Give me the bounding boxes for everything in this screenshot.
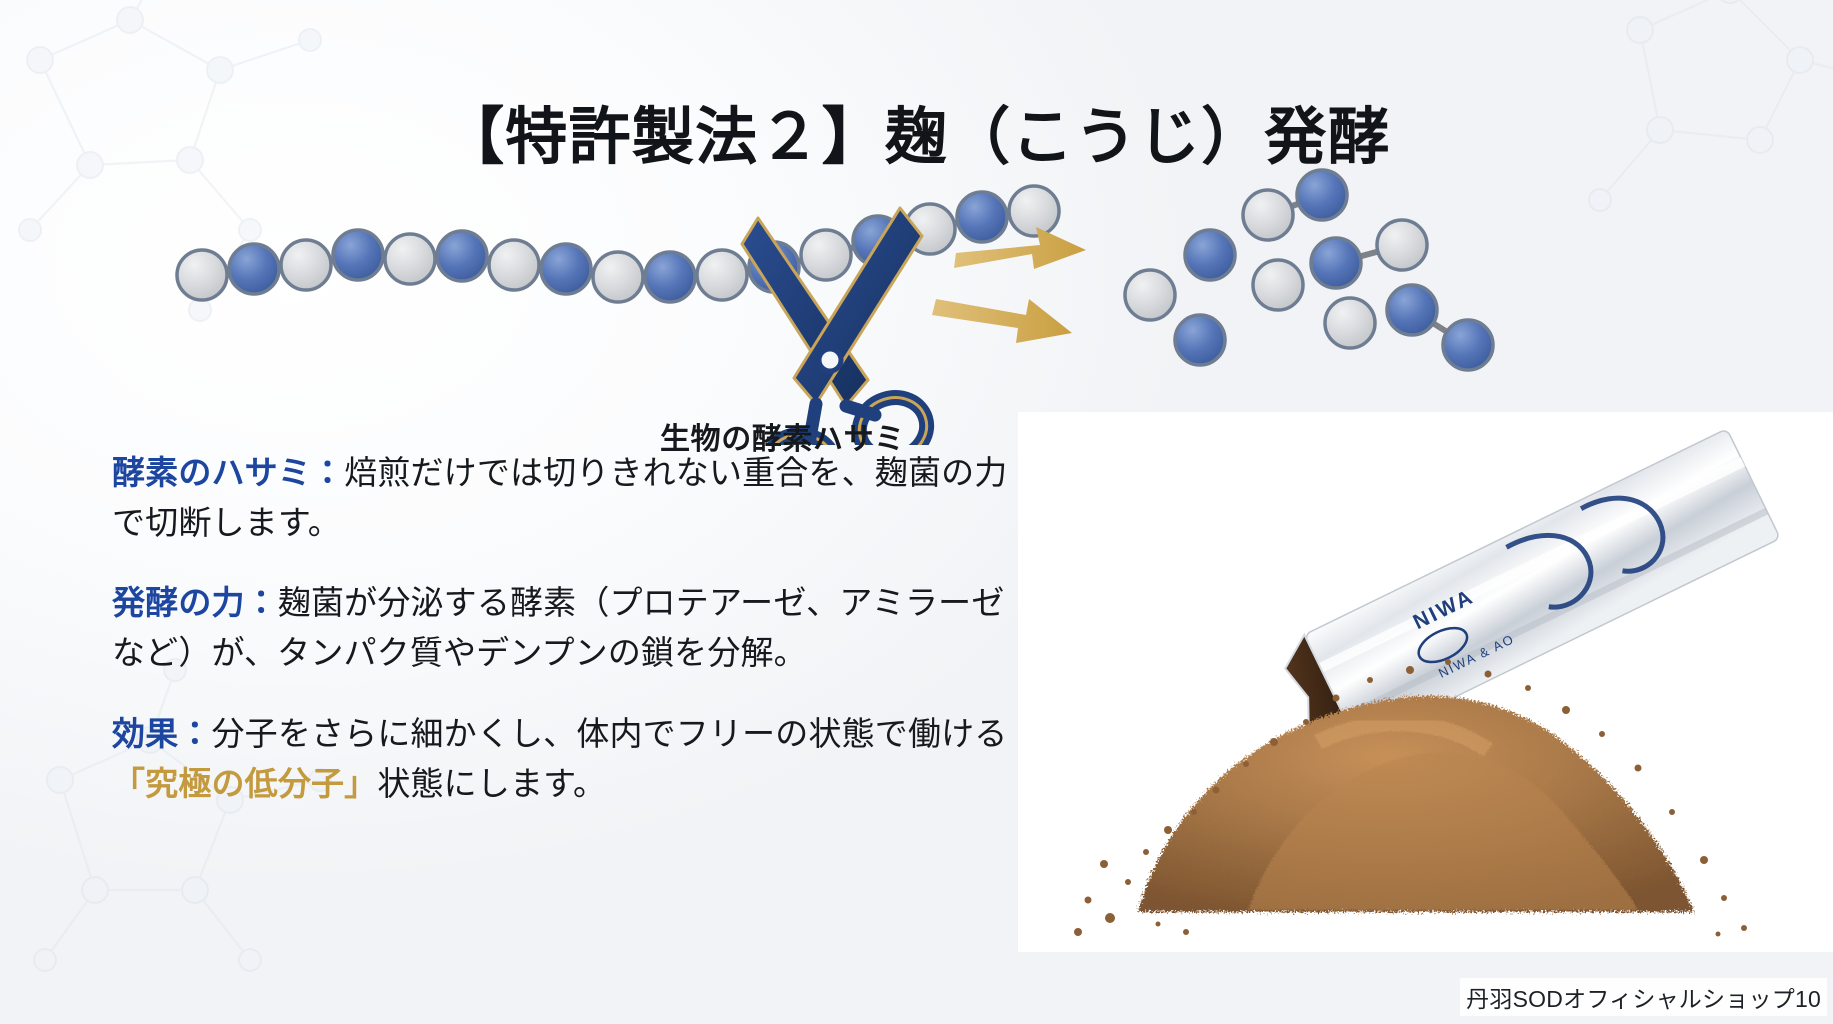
paragraph-enzyme-scissors: 酵素のハサミ：焙煎だけでは切りきれない重合を、麹菌の力で切断します。 (112, 448, 1012, 548)
enzyme-cleavage-diagram (150, 155, 1570, 445)
paragraph-lead: 発酵の力： (112, 584, 278, 621)
arrow-right-icon (932, 227, 1086, 343)
free-molecules (1125, 170, 1493, 370)
paragraph-text-after: 状態にします。 (377, 765, 606, 802)
polymer-chain (177, 186, 1059, 302)
paragraph-fermentation-power: 発酵の力：麹菌が分泌する酵素（プロテアーゼ、アミラーゼなど）が、タンパク質やデン… (112, 578, 1012, 678)
slide-canvas: 【特許製法２】麹（こうじ）発酵 (0, 0, 1833, 1024)
footer-label: 丹羽SODオフィシャルショップ10 (1460, 978, 1827, 1016)
product-photo: NIWA NIWA & AO (1018, 412, 1833, 952)
paragraph-text-before: 分子をさらに細かくし、体内でフリーの状態で働ける (212, 715, 1008, 752)
paragraph-highlight: 「究極の低分子」 (112, 765, 377, 802)
paragraph-effect: 効果：分子をさらに細かくし、体内でフリーの状態で働ける「究極の低分子」状態にしま… (112, 709, 1012, 809)
body-copy: 酵素のハサミ：焙煎だけでは切りきれない重合を、麹菌の力で切断します。 発酵の力：… (112, 448, 1012, 809)
paragraph-lead: 効果： (112, 715, 212, 752)
paragraph-lead: 酵素のハサミ： (112, 454, 344, 491)
